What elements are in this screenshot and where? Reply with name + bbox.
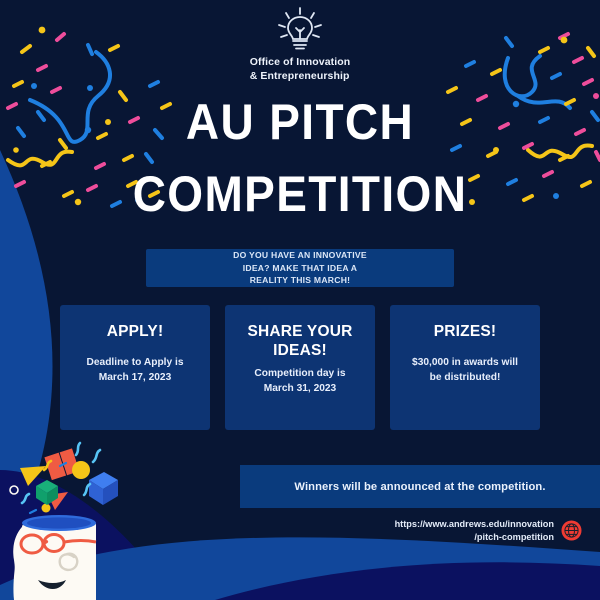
organization-name: Office of Innovation & Entrepreneurship	[250, 56, 351, 83]
head-profile	[13, 515, 96, 600]
subtitle-text: DO YOU HAVE AN INNOVATIVE IDEA? MAKE THA…	[233, 249, 367, 286]
website-url-block[interactable]: https://www.andrews.edu/innovation /pitc…	[395, 518, 582, 543]
poster-title-line-2: COMPETITION	[24, 168, 576, 220]
card-body: $30,000 in awards will be distributed!	[412, 355, 518, 385]
winners-text: Winners will be announced at the competi…	[294, 481, 545, 493]
card-share-your-ideas: SHARE YOUR IDEAS! Competition day is Mar…	[225, 305, 375, 430]
card-body: Deadline to Apply is March 17, 2023	[87, 355, 184, 385]
open-head-illustration	[0, 0, 600, 600]
subtitle-banner: DO YOU HAVE AN INNOVATIVE IDEA? MAKE THA…	[146, 249, 454, 287]
poster-title-line-1: AU PITCH	[24, 96, 576, 148]
card-apply: APPLY! Deadline to Apply is March 17, 20…	[60, 305, 210, 430]
card-title: PRIZES!	[434, 322, 497, 341]
winners-banner: Winners will be announced at the competi…	[240, 465, 600, 508]
org-line-2: & Entrepreneurship	[250, 70, 351, 84]
card-title: APPLY!	[107, 322, 164, 341]
website-url-text[interactable]: https://www.andrews.edu/innovation /pitc…	[395, 518, 554, 543]
idea-shapes	[10, 443, 118, 513]
info-cards: APPLY! Deadline to Apply is March 17, 20…	[60, 305, 540, 430]
org-line-1: Office of Innovation	[250, 56, 351, 70]
card-body: Competition day is March 31, 2023	[254, 366, 345, 396]
poster-canvas: Office of Innovation & Entrepreneurship …	[0, 0, 600, 600]
lightbulb-icon	[272, 6, 328, 52]
card-prizes: PRIZES! $30,000 in awards will be distri…	[390, 305, 540, 430]
card-title: SHARE YOUR IDEAS!	[247, 322, 352, 360]
organization-header: Office of Innovation & Entrepreneurship	[0, 6, 600, 83]
globe-icon	[561, 520, 582, 541]
